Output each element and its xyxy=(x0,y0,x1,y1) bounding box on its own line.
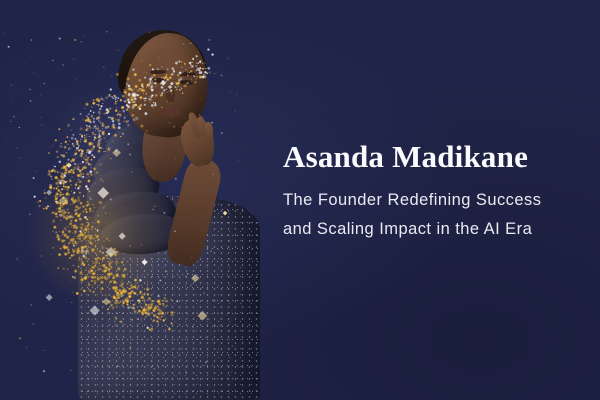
promotional-banner: Asanda Madikane The Founder Redefining S… xyxy=(0,0,600,400)
tagline-line-1: The Founder Redefining Success xyxy=(283,187,583,214)
eyebrow xyxy=(179,72,195,76)
eyebrow xyxy=(150,70,166,74)
earring-sparkle-icon xyxy=(131,92,137,98)
nose xyxy=(166,88,175,102)
subject-portrait xyxy=(0,0,290,400)
finger xyxy=(204,122,213,141)
headline-block: Asanda Madikane The Founder Redefining S… xyxy=(283,139,583,243)
tagline-line-2: and Scaling Impact in the AI Era xyxy=(283,216,583,243)
page-title: Asanda Madikane xyxy=(283,139,583,175)
